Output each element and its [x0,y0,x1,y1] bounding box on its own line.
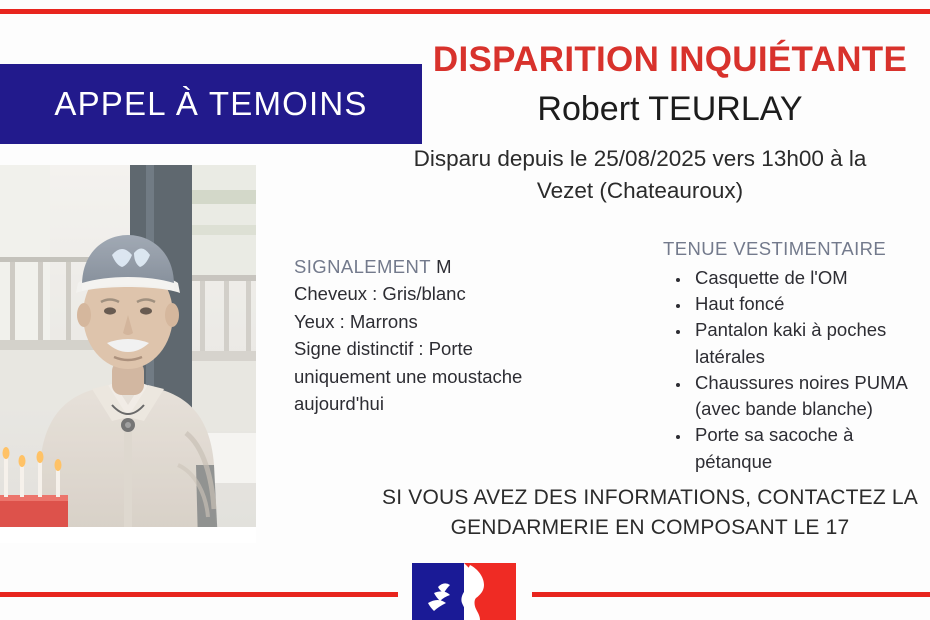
signalement-label: SIGNALEMENT [294,256,431,277]
signalement-age: M [436,256,451,277]
banner-label: APPEL À TEMOINS [54,85,367,123]
signalement-section: SIGNALEMENT M Cheveux : Gris/blanc Yeux … [294,253,594,417]
photo-illustration [0,165,256,543]
tenue-title: TENUE VESTIMENTAIRE [663,236,930,263]
headline-block: DISPARITION INQUIÉTANTE Robert TEURLAY D… [350,40,930,206]
signalement-mark-1: Signe distinctif : Porte [294,335,594,362]
signalement-hair: Cheveux : Gris/blanc [294,280,594,307]
tenue-list: Casquette de l'OM Haut foncé Pantalon ka… [663,265,930,475]
call-to-action-text: SI VOUS AVEZ DES INFORMATIONS, CONTACTEZ… [350,483,930,543]
signalement-eyes: Yeux : Marrons [294,308,594,335]
list-item: Casquette de l'OM [691,265,930,291]
bottom-red-rule-right [532,592,930,597]
missing-person-photo [0,165,256,543]
marianne-icon [398,563,532,620]
list-item: Chaussures noires PUMA (avec bande blanc… [691,370,930,423]
list-item: Haut foncé [691,291,930,317]
signalement-mark-2: uniquement une moustache [294,363,594,390]
bottom-red-rule-left [0,592,398,597]
top-red-rule [0,9,930,14]
tenue-vestimentaire-section: TENUE VESTIMENTAIRE Casquette de l'OM Ha… [663,236,930,475]
page-title: DISPARITION INQUIÉTANTE [350,40,930,79]
list-item: Pantalon kaki à poches latérales [691,317,930,370]
signalement-line: SIGNALEMENT M [294,253,594,280]
missing-person-poster: APPEL À TEMOINS [0,0,930,620]
signalement-mark-3: aujourd'hui [294,390,594,417]
person-name: Robert TEURLAY [350,91,930,128]
marianne-republique-francaise-logo [398,563,532,620]
list-item: Porte sa sacoche à pétanque [691,422,930,475]
disappearance-details: Disparu depuis le 25/08/2025 vers 13h00 … [350,143,930,207]
